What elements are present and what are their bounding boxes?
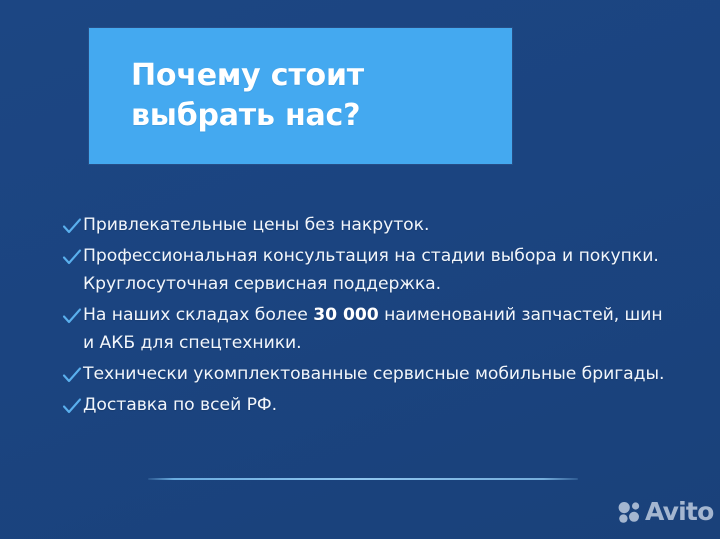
list-item: Привлекательные цены без накруток. bbox=[61, 211, 667, 240]
list-item: Технически укомплектованные сервисные мо… bbox=[61, 360, 667, 389]
list-item: Доставка по всей РФ. bbox=[61, 391, 667, 420]
avito-dots-icon bbox=[617, 500, 643, 524]
page-title: Почему стоит выбрать нас? bbox=[131, 56, 491, 136]
benefits-list: Привлекательные цены без накруток. Профе… bbox=[61, 211, 667, 421]
list-item: Профессиональная консультация на стадии … bbox=[61, 242, 667, 299]
divider bbox=[148, 478, 578, 480]
list-item-label: Технически укомплектованные сервисные мо… bbox=[83, 360, 667, 389]
list-item-label: Профессиональная консультация на стадии … bbox=[83, 242, 667, 299]
check-icon bbox=[61, 244, 83, 270]
slide-canvas: Почему стоит выбрать нас? Привлекательны… bbox=[0, 0, 720, 539]
list-item: На наших складах более 30 000 наименован… bbox=[61, 301, 667, 358]
title-banner: Почему стоит выбрать нас? bbox=[89, 28, 512, 164]
check-icon bbox=[61, 303, 83, 329]
avito-wordmark: Avito bbox=[645, 500, 713, 524]
list-item-label: Доставка по всей РФ. bbox=[83, 391, 667, 420]
list-item-label: Привлекательные цены без накруток. bbox=[83, 211, 667, 240]
check-icon bbox=[61, 393, 83, 419]
list-item-label: На наших складах более 30 000 наименован… bbox=[83, 301, 667, 358]
check-icon bbox=[61, 362, 83, 388]
check-icon bbox=[61, 213, 83, 239]
avito-watermark: Avito bbox=[617, 500, 713, 524]
